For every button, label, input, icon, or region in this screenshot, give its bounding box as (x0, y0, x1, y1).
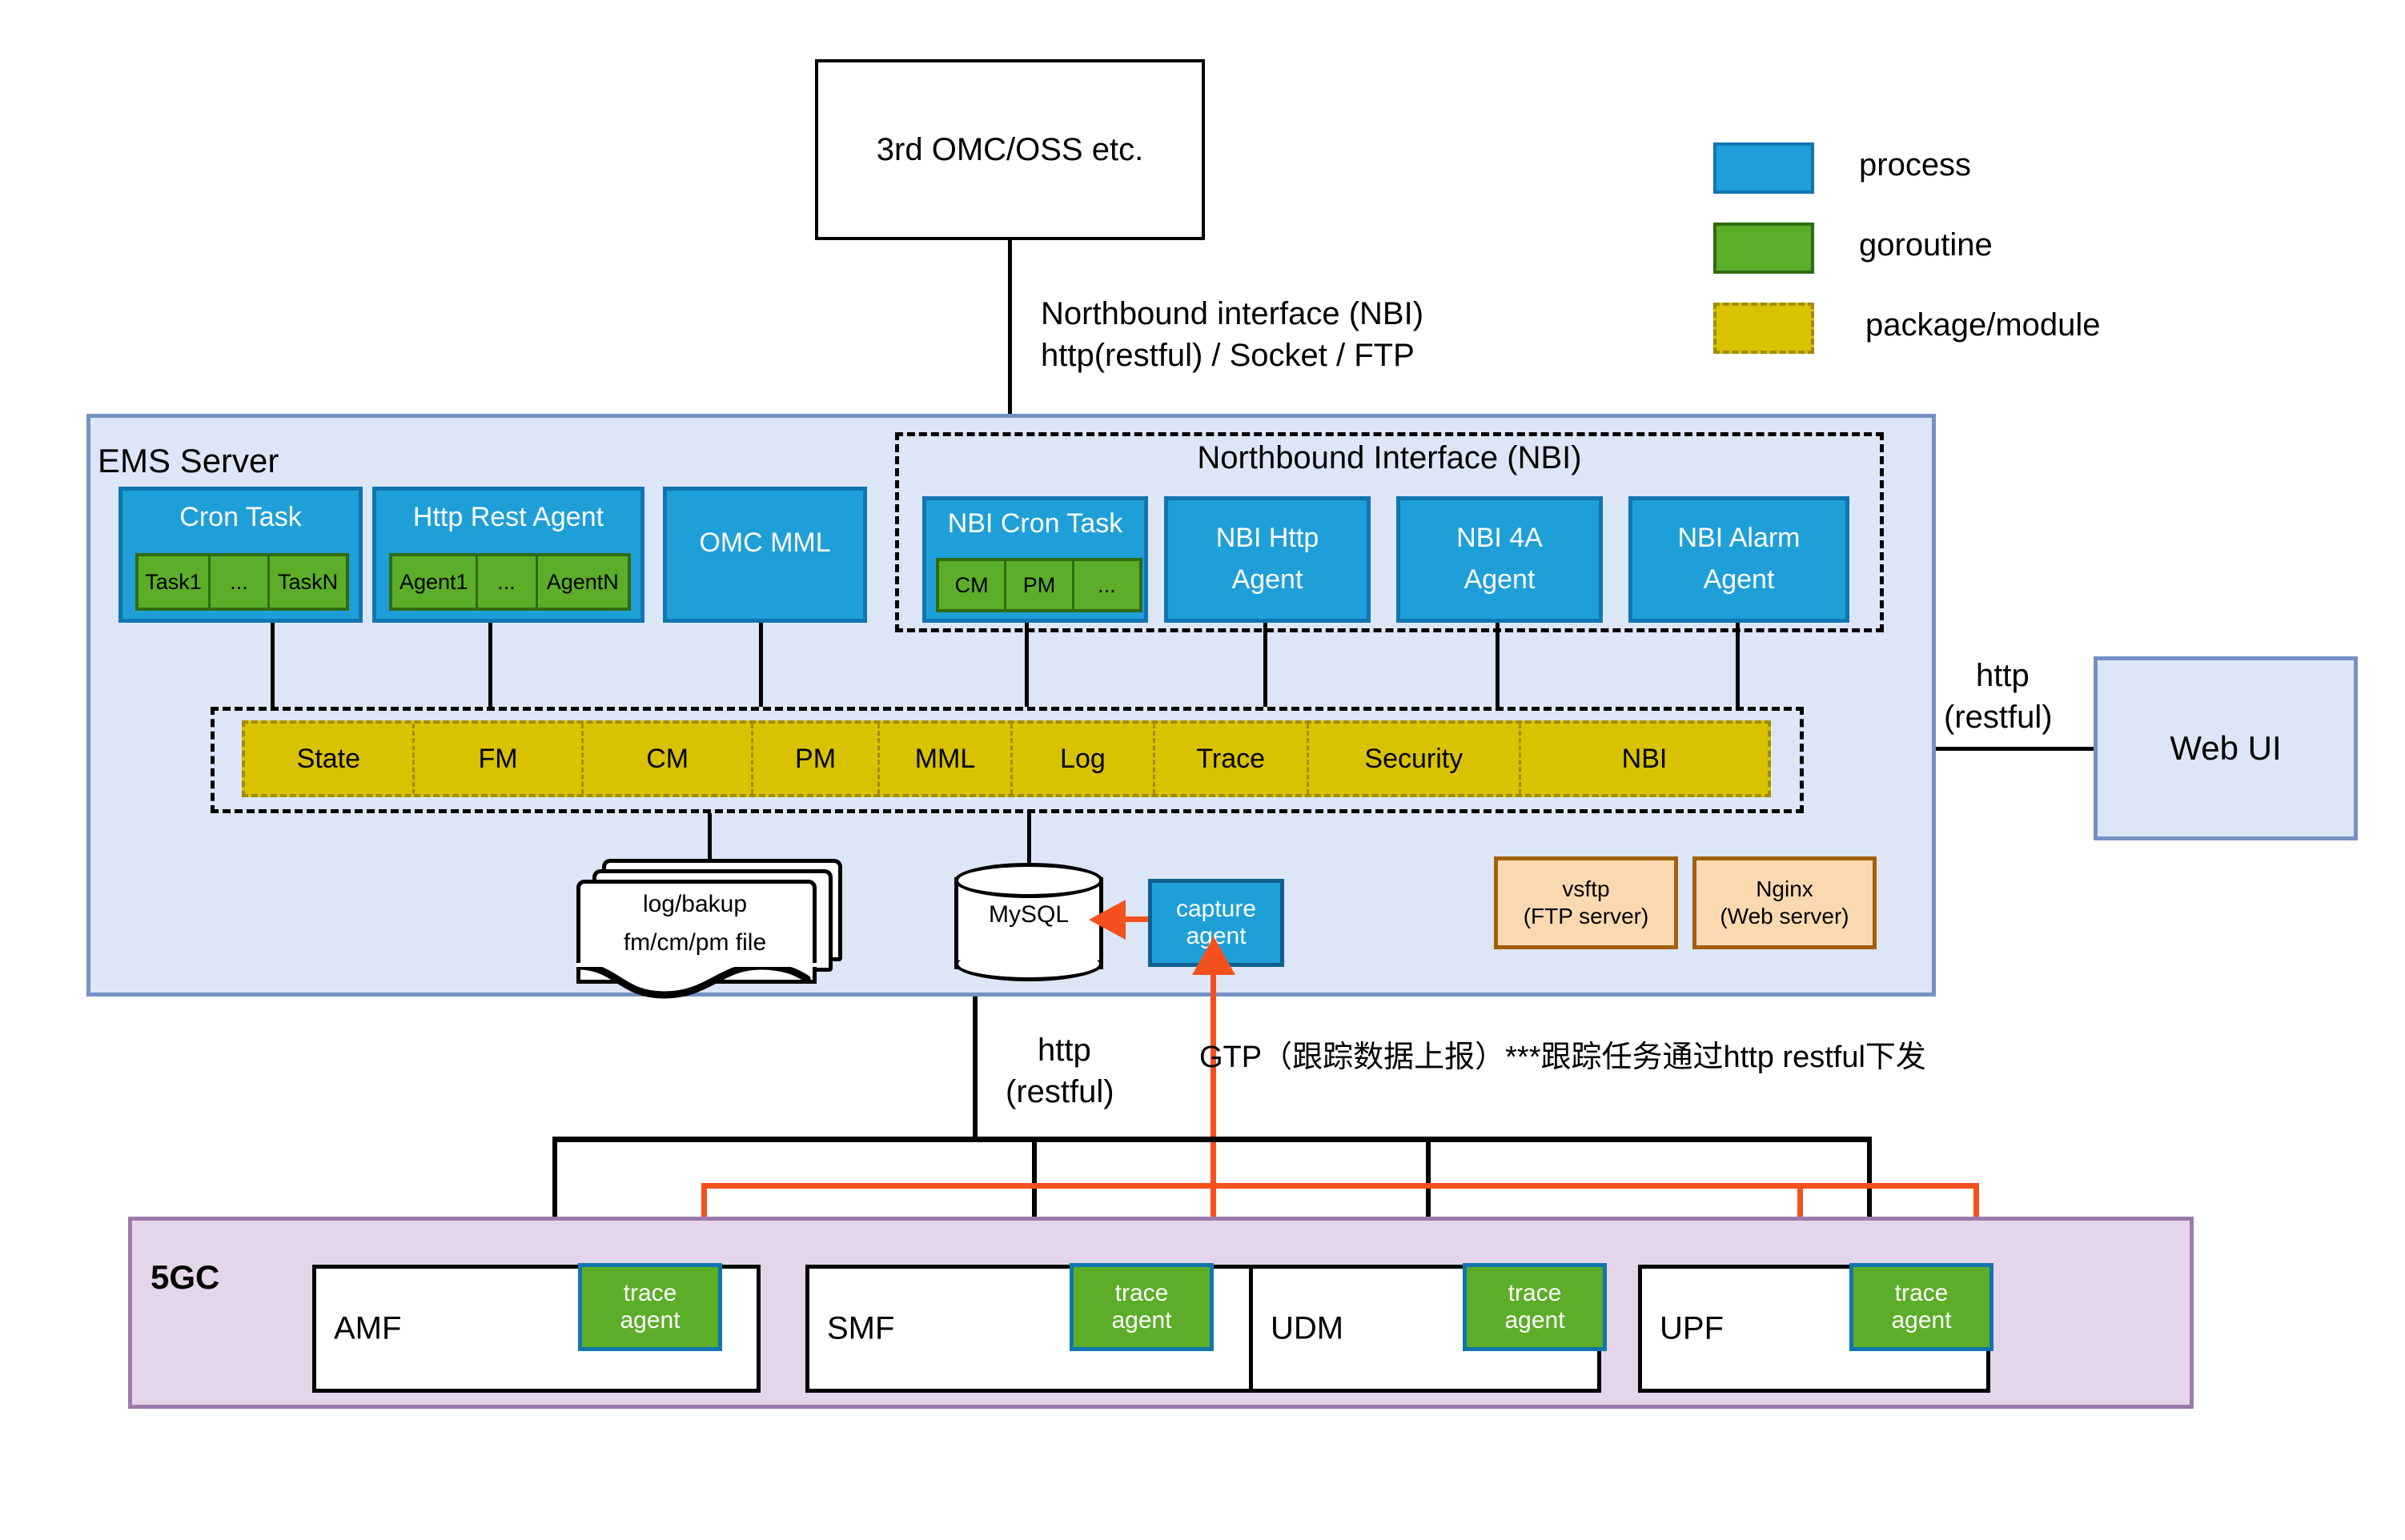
process-nbi-http-agent[interactable]: NBI Http Agent (1164, 496, 1371, 623)
legend-swatch-process (1713, 142, 1814, 194)
connector-nbi-http-agent-to-modules (1263, 623, 1267, 707)
module-state[interactable]: State (245, 724, 415, 794)
process-nbi-4a-agent-label-line1: NBI 4A (1400, 523, 1599, 553)
vsftp-label-line2: (FTP server) (1524, 903, 1649, 930)
connector-modules-to-mysql (1027, 813, 1031, 863)
cylinder-top (954, 863, 1103, 898)
process-http-rest-agent[interactable]: Http Rest Agent Agent1 ... AgentN (372, 487, 644, 623)
trace-agent-label-line2: agent (1111, 1307, 1171, 1334)
legend-item-package-module: package/module (1713, 303, 2274, 354)
third-party-omc-oss-box[interactable]: 3rd OMC/OSS etc. (815, 59, 1205, 240)
module-cm[interactable]: CM (584, 724, 753, 794)
bus-http-horizontal (552, 1137, 1872, 1142)
trace-agent-label-line2: agent (1891, 1307, 1951, 1334)
trace-agent-label-line1: trace (1504, 1280, 1564, 1307)
legend-swatch-goroutine (1713, 223, 1814, 274)
module-nbi[interactable]: NBI (1521, 724, 1768, 794)
third-party-label: 3rd OMC/OSS etc. (877, 132, 1143, 168)
fivegc-link-label-line2: (restful) (1006, 1073, 1114, 1112)
connector-cron-task-to-modules (271, 623, 275, 707)
connector-nbi-alarm-agent-to-modules (1736, 623, 1740, 707)
arrowhead-gtp-to-capture-agent (1190, 936, 1238, 978)
goroutine-cell[interactable]: ... (1074, 561, 1139, 609)
nbi-link-label-line1: Northbound interface (NBI) (1041, 295, 1423, 334)
trace-agent-label-line1: trace (1111, 1280, 1171, 1307)
goroutine-cell[interactable]: PM (1006, 561, 1074, 609)
web-ui-label: Web UI (2170, 729, 2281, 768)
trace-agent-label-line2: agent (620, 1307, 680, 1334)
module-trace[interactable]: Trace (1155, 724, 1309, 794)
goroutine-cell[interactable]: Agent1 (392, 556, 478, 608)
legend-label-process: process (1859, 147, 1971, 183)
process-omc-mml-label: OMC MML (667, 527, 863, 558)
mysql-label: MySQL (954, 901, 1103, 928)
web-ui-box[interactable]: Web UI (2094, 656, 2358, 840)
process-nbi-http-agent-label-line1: NBI Http (1168, 523, 1367, 553)
process-nbi-4a-agent[interactable]: NBI 4A Agent (1396, 496, 1603, 623)
connector-omc-mml-to-modules (759, 623, 763, 707)
process-cron-task[interactable]: Cron Task Task1 ... TaskN (118, 487, 363, 623)
vsftp-label-line1: vsftp (1524, 876, 1649, 903)
connector-modules-to-files (708, 813, 712, 861)
fivegc-link-label-line1: http (1038, 1031, 1091, 1070)
connector-http-rest-agent-to-modules (488, 623, 492, 707)
nbi-link-label-line2: http(restful) / Socket / FTP (1041, 336, 1415, 375)
smf-label: SMF (827, 1311, 894, 1347)
trace-agent-label-line2: agent (1504, 1307, 1564, 1334)
upf-label: UPF (1660, 1311, 1724, 1347)
server-vsftp[interactable]: vsftp (FTP server) (1494, 856, 1678, 949)
module-security[interactable]: Security (1309, 724, 1521, 794)
file-stack-wave (576, 963, 817, 1001)
connector-omc-to-ems (1008, 240, 1012, 414)
nginx-label-line1: Nginx (1720, 876, 1849, 903)
gtp-note-label: GTP（跟踪数据上报）***跟踪任务通过http restful下发 (1199, 1039, 1926, 1076)
nginx-label-line2: (Web server) (1720, 903, 1849, 930)
module-mml[interactable]: MML (880, 724, 1013, 794)
connector-nbi-cron-task-to-modules (1025, 623, 1029, 707)
goroutine-cell[interactable]: TaskN (270, 556, 346, 608)
process-nbi-cron-task[interactable]: NBI Cron Task CM PM ... (922, 496, 1148, 623)
goroutine-strip-http-rest-agent: Agent1 ... AgentN (389, 553, 631, 611)
goroutine-cell[interactable]: ... (211, 556, 270, 608)
log-backup-file-stack: log/bakup fm/cm/pm file (576, 859, 841, 983)
process-omc-mml[interactable]: OMC MML (663, 487, 867, 623)
goroutine-strip-nbi-cron-task: CM PM ... (936, 558, 1142, 612)
process-nbi-4a-agent-label-line2: Agent (1400, 564, 1599, 595)
legend-item-goroutine: goroutine (1713, 223, 2274, 274)
legend-item-process: process (1713, 142, 2274, 194)
goroutine-cell[interactable]: ... (478, 556, 538, 608)
capture-agent-label-line1: capture (1176, 896, 1256, 923)
webui-link-label-line1: http (1976, 656, 2030, 696)
file-label-line1: log/bakup (583, 891, 807, 918)
trace-agent-amf[interactable]: trace agent (578, 1263, 722, 1351)
mysql-database-cylinder[interactable]: MySQL (954, 863, 1103, 983)
trace-agent-label-line1: trace (1891, 1280, 1951, 1307)
server-nginx[interactable]: Nginx (Web server) (1692, 856, 1877, 949)
goroutine-cell[interactable]: AgentN (538, 556, 628, 608)
legend-label-package-module: package/module (1865, 307, 2101, 343)
file-label-line2: fm/cm/pm file (583, 929, 807, 956)
process-nbi-alarm-agent-label-line1: NBI Alarm (1632, 523, 1845, 553)
fivegc-title: 5GC (151, 1258, 219, 1297)
module-pm[interactable]: PM (753, 724, 880, 794)
bus-gtp-horizontal (701, 1183, 1979, 1189)
amf-label: AMF (334, 1311, 401, 1347)
process-http-rest-agent-label: Http Rest Agent (376, 502, 640, 532)
legend-label-goroutine: goroutine (1859, 227, 1993, 263)
process-nbi-http-agent-label-line2: Agent (1168, 564, 1367, 595)
process-cron-task-label: Cron Task (122, 502, 359, 532)
module-fm[interactable]: FM (415, 724, 584, 794)
connector-ems-to-5gc-trunk (973, 997, 978, 1139)
connector-nbi-4a-agent-to-modules (1496, 623, 1500, 707)
nbi-title: Northbound Interface (NBI) (895, 440, 1884, 476)
goroutine-cell[interactable]: Task1 (139, 556, 211, 608)
webui-link-label-line2: (restful) (1944, 698, 2053, 737)
trace-agent-upf[interactable]: trace agent (1849, 1263, 1993, 1351)
trace-agent-udm[interactable]: trace agent (1463, 1263, 1607, 1351)
trace-agent-smf[interactable]: trace agent (1070, 1263, 1214, 1351)
process-nbi-cron-task-label: NBI Cron Task (926, 508, 1144, 539)
goroutine-cell[interactable]: CM (939, 561, 1006, 609)
ems-server-title: EMS Server (98, 442, 279, 480)
process-nbi-alarm-agent-label-line2: Agent (1632, 564, 1845, 595)
module-log[interactable]: Log (1013, 724, 1155, 794)
udm-label: UDM (1271, 1311, 1343, 1347)
process-nbi-alarm-agent[interactable]: NBI Alarm Agent (1628, 496, 1849, 623)
trace-agent-label-line1: trace (620, 1280, 680, 1307)
legend: process goroutine package/module (1713, 142, 2274, 375)
goroutine-strip-cron-task: Task1 ... TaskN (135, 553, 349, 611)
connector-ems-to-webui (1936, 747, 2096, 751)
legend-swatch-package-module (1713, 303, 1814, 354)
module-bus: State FM CM PM MML Log Trace Security NB… (242, 720, 1771, 797)
